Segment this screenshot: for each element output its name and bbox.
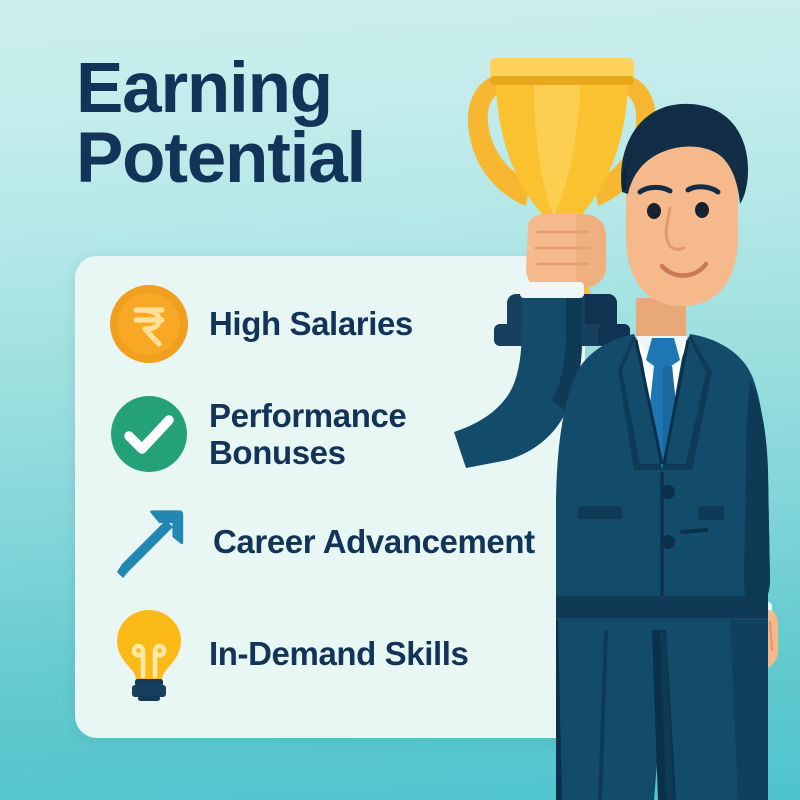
infographic-canvas: Earning Potential Hig	[0, 0, 800, 800]
page-title-line-2: Potential	[76, 124, 496, 194]
gripping-hand	[526, 214, 606, 288]
check-circle-icon	[101, 386, 197, 482]
page-title-line-1: Earning	[76, 54, 496, 124]
rupee-coin-icon	[101, 276, 197, 372]
lightbulb-icon	[101, 606, 197, 702]
page-title: Earning Potential	[76, 54, 496, 193]
head	[621, 104, 748, 350]
list-item-label: High Salaries	[209, 305, 413, 342]
trending-up-arrow-icon	[101, 494, 197, 590]
trousers	[556, 596, 768, 800]
